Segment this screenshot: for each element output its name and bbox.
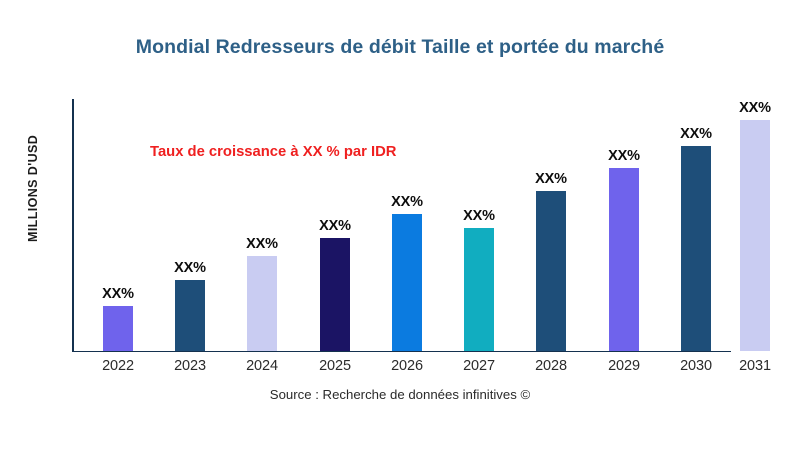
bar: [464, 228, 494, 351]
bar: [740, 120, 770, 351]
bar: [609, 168, 639, 351]
bar: [392, 214, 422, 351]
x-tick-label: 2025: [305, 358, 365, 374]
bar-group: XX%: [392, 214, 422, 351]
bar-value-label: XX%: [174, 260, 206, 276]
bar: [681, 146, 711, 351]
bar: [247, 256, 277, 351]
bar-group: XX%: [320, 238, 350, 351]
bar: [320, 238, 350, 351]
plot-area: XX%XX%XX%XX%XX%XX%XX%XX%XX%XX%: [72, 99, 782, 351]
x-tick-label: 2031: [725, 358, 785, 374]
bar-group: XX%: [609, 168, 639, 351]
bar-value-label: XX%: [463, 208, 495, 224]
x-tick-label: 2028: [521, 358, 581, 374]
source-note: Source : Recherche de données infinitive…: [0, 387, 800, 402]
x-tick-label: 2029: [594, 358, 654, 374]
bar-value-label: XX%: [535, 171, 567, 187]
y-axis-label: MILLIONS D'USD: [26, 98, 44, 278]
bar-group: XX%: [681, 146, 711, 351]
x-tick-label: 2030: [666, 358, 726, 374]
bar-value-label: XX%: [246, 236, 278, 252]
bar-group: XX%: [464, 228, 494, 351]
bar-group: XX%: [175, 280, 205, 351]
x-tick-label: 2023: [160, 358, 220, 374]
bar-chart: Mondial Redresseurs de débit Taille et p…: [0, 0, 800, 450]
x-tick-label: 2022: [88, 358, 148, 374]
bar-value-label: XX%: [680, 126, 712, 142]
x-tick-label: 2024: [232, 358, 292, 374]
growth-rate-annotation: Taux de croissance à XX % par IDR: [150, 144, 396, 160]
bar-group: XX%: [740, 120, 770, 351]
page-title: Mondial Redresseurs de débit Taille et p…: [0, 36, 800, 59]
bar: [103, 306, 133, 351]
bar-group: XX%: [536, 191, 566, 351]
bar-group: XX%: [247, 256, 277, 351]
bar-value-label: XX%: [391, 194, 423, 210]
bar-value-label: XX%: [608, 148, 640, 164]
bar: [536, 191, 566, 351]
bar-group: XX%: [103, 306, 133, 351]
bar-value-label: XX%: [739, 100, 771, 116]
x-tick-label: 2026: [377, 358, 437, 374]
bar-value-label: XX%: [319, 218, 351, 234]
bar-value-label: XX%: [102, 286, 134, 302]
bar: [175, 280, 205, 351]
x-tick-label: 2027: [449, 358, 509, 374]
